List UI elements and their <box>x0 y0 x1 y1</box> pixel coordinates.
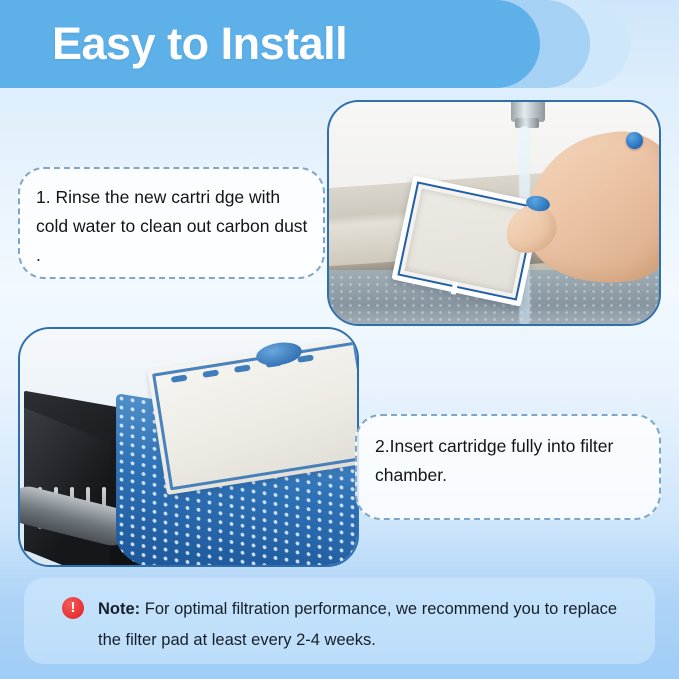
note-text: Note: For optimal filtration performance… <box>98 594 637 656</box>
photo-rinse-cartridge <box>327 100 661 326</box>
filter-pad-frame <box>152 342 359 491</box>
insert-scene <box>20 329 357 565</box>
note-bar: ! Note: For optimal filtration performan… <box>24 578 655 664</box>
rinse-scene <box>329 102 659 324</box>
exclamation-icon: ! <box>62 597 84 619</box>
step-1-text: 1. Rinse the new cartri dge with cold wa… <box>36 183 313 270</box>
step-1-callout: 1. Rinse the new cartri dge with cold wa… <box>18 167 325 279</box>
step-2-callout: 2.Insert cartridge fully into filter cha… <box>355 414 661 520</box>
header-banner: Easy to Install <box>0 0 679 92</box>
step-2-text: 2.Insert cartridge fully into filter cha… <box>375 432 647 490</box>
infographic-page: Easy to Install <box>0 0 679 679</box>
note-label: Note: <box>98 600 140 618</box>
blue-accent-dot-icon <box>626 132 643 149</box>
note-body: For optimal filtration performance, we r… <box>98 600 617 649</box>
photo-insert-cartridge <box>18 327 359 567</box>
page-title: Easy to Install <box>52 13 347 75</box>
cartridge-notch-shape <box>451 282 458 295</box>
